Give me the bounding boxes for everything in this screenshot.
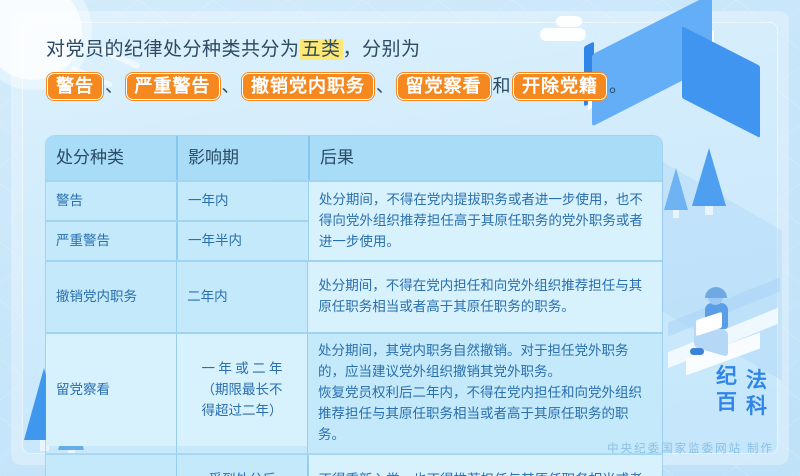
separator-period: 。 xyxy=(608,76,629,96)
logo-char-ji: 纪 xyxy=(716,366,737,387)
brand-logo: 纪 法 百 科 xyxy=(716,366,774,424)
cell-period-probation: 一 年 或 二 年 （期限最长不 得超过二年） xyxy=(177,334,307,446)
person-with-laptop-illustration xyxy=(688,288,758,370)
cell-type-expulsion: 开除党籍 xyxy=(46,455,176,476)
headline-line-2: 警告、严重警告、撤销党内职务、留党察看和开除党籍。 xyxy=(46,73,740,102)
table-row: 撤销党内职务 二年内 处分期间，不得在党内担任和向党外组织推荐担任与其原任职务相… xyxy=(46,262,662,332)
separator-and: 和 xyxy=(492,76,513,96)
badge-serious-warning[interactable]: 严重警告 xyxy=(126,73,220,101)
cell-type-warning: 警告 xyxy=(46,182,176,220)
cell-consequence-warning: 处分期间，不得在党内提拔职务或者进一步使用，也不得向党外组织推荐担任高于其原任职… xyxy=(309,182,662,260)
table-row: 开除党籍 受到处分后 五年内 不得重新入党，也不得推荐担任与其原任职务相当或者高… xyxy=(46,455,662,476)
badge-warning[interactable]: 警告 xyxy=(47,73,103,101)
table-row: 留党察看 一 年 或 二 年 （期限最长不 得超过二年） 处分期间，其党内职务自… xyxy=(46,334,662,453)
infographic-canvas: 对党员的纪律处分种类共分为五类，分别为 警告、严重警告、撤销党内职务、留党察看和… xyxy=(0,0,800,476)
cell-type-serious-warning: 严重警告 xyxy=(46,222,176,260)
headline-highlight: 五类 xyxy=(300,39,343,60)
separator-1: 、 xyxy=(104,76,125,96)
badge-removal-from-post[interactable]: 撤销党内职务 xyxy=(242,73,374,101)
tree-right-2 xyxy=(664,168,688,218)
cell-type-removal: 撤销党内职务 xyxy=(46,262,176,332)
table-row: 警告 一年内 xyxy=(46,182,308,220)
badge-probation[interactable]: 留党察看 xyxy=(397,73,491,101)
logo-char-fa: 法 xyxy=(746,370,767,391)
table-row-group-warning: 警告 一年内 严重警告 一年半内 处分期间，不得在党内提拔职务或者进一步使用，也… xyxy=(46,182,662,260)
cell-period-removal: 二年内 xyxy=(177,262,307,332)
header-cell-consequence: 后果 xyxy=(310,136,662,180)
headline-line-1: 对党员的纪律处分种类共分为五类，分别为 xyxy=(46,36,740,65)
table-row: 严重警告 一年半内 xyxy=(46,222,308,260)
header-cell-type: 处分种类 xyxy=(46,136,176,180)
discipline-table: 处分种类 影响期 后果 警告 一年内 严重警告 一年半内 xyxy=(46,136,662,476)
footer-credit: 中央纪委国家监委网站 制作 xyxy=(607,440,774,456)
separator-3: 、 xyxy=(375,76,396,96)
headline-block: 对党员的纪律处分种类共分为五类，分别为 警告、严重警告、撤销党内职务、留党察看和… xyxy=(46,36,740,101)
cell-period-expulsion: 受到处分后 五年内 xyxy=(177,455,307,476)
logo-char-bai: 百 xyxy=(716,392,737,413)
cell-consequence-removal: 处分期间，不得在党内担任和向党外组织推荐担任与其原任职务相当或者高于其原任职务的… xyxy=(308,262,662,332)
badge-expulsion[interactable]: 开除党籍 xyxy=(513,73,607,101)
cell-consequence-expulsion: 不得重新入党，也不得推荐担任与其原任职务相当或者高于其原任职务的党外职务。 xyxy=(309,455,662,476)
headline-text-post: ，分别为 xyxy=(343,39,421,60)
cell-period-serious-warning: 一年半内 xyxy=(178,222,308,260)
logo-char-ke: 科 xyxy=(746,396,767,417)
table-header-row: 处分种类 影响期 后果 xyxy=(46,136,662,180)
cell-consequence-probation: 处分期间，其党内职务自然撤销。对于担任党外职务的，应当建议党外组织撤销其党外职务… xyxy=(308,334,662,453)
header-cell-period: 影响期 xyxy=(178,136,308,180)
tree-right-1 xyxy=(692,148,726,215)
separator-2: 、 xyxy=(221,76,242,96)
cell-period-warning: 一年内 xyxy=(178,182,308,220)
headline-text-pre: 对党员的纪律处分种类共分为 xyxy=(46,39,300,60)
cell-type-probation: 留党察看 xyxy=(46,334,176,446)
